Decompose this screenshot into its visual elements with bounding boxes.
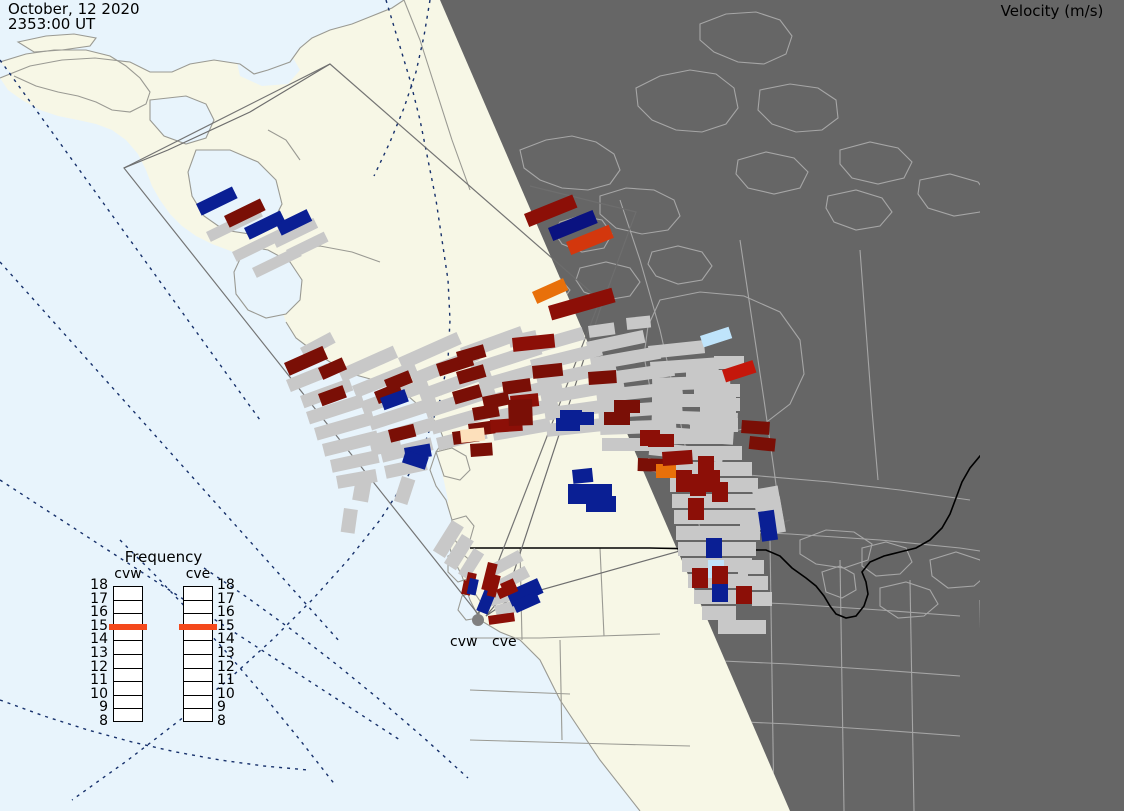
frequency-column-cvw-header: cvw bbox=[113, 566, 143, 582]
frequency-cell-cve-8 bbox=[184, 696, 212, 710]
frequency-column-cve-header: cve bbox=[183, 566, 213, 582]
frequency-legend: Frequency 18171615141312111098 181716151… bbox=[86, 548, 241, 780]
radar-site-marker bbox=[472, 614, 484, 626]
frequency-cell-cvw-3 bbox=[114, 628, 142, 642]
timestamp-overlay: October, 12 20202353:00 UT bbox=[8, 2, 140, 32]
frequency-cell-cvw-7 bbox=[114, 682, 142, 696]
frequency-cell-cve-4 bbox=[184, 641, 212, 655]
frequency-bar-cvw bbox=[113, 586, 143, 722]
frequency-cell-cve-3 bbox=[184, 628, 212, 642]
frequency-cell-cvw-4 bbox=[114, 641, 142, 655]
radar-site-label-cve: cve bbox=[492, 634, 517, 650]
frequency-legend-title: Frequency bbox=[86, 548, 241, 566]
frequency-cell-cve-7 bbox=[184, 682, 212, 696]
frequency-marker-cvw bbox=[109, 624, 147, 630]
timestamp-time: 2353:00 UT bbox=[8, 15, 95, 33]
frequency-cell-cve-9 bbox=[184, 709, 212, 723]
frequency-cell-cvw-0 bbox=[114, 587, 142, 601]
frequency-cell-cvw-5 bbox=[114, 655, 142, 669]
frequency-tick-left-8: 8 bbox=[84, 713, 108, 729]
frequency-cell-cvw-6 bbox=[114, 669, 142, 683]
frequency-marker-cve bbox=[179, 624, 217, 630]
frequency-cell-cvw-8 bbox=[114, 696, 142, 710]
frequency-tick-right-8: 8 bbox=[217, 713, 241, 729]
radar-site-label-cvw: cvw bbox=[450, 634, 477, 650]
superdarn-velocity-map: October, 12 20202353:00 UT cvw cve Frequ… bbox=[0, 0, 1124, 811]
frequency-bar-cve bbox=[183, 586, 213, 722]
frequency-cell-cvw-1 bbox=[114, 601, 142, 615]
frequency-cell-cve-5 bbox=[184, 655, 212, 669]
velocity-colorbar-title: Velocity (m/s) bbox=[980, 2, 1124, 20]
frequency-cell-cve-1 bbox=[184, 601, 212, 615]
frequency-cell-cvw-9 bbox=[114, 709, 142, 723]
frequency-cell-cve-0 bbox=[184, 587, 212, 601]
velocity-colorbar-group: Velocity (m/s) 5004003002001000-100-200-… bbox=[980, 0, 1124, 811]
frequency-cell-cve-6 bbox=[184, 669, 212, 683]
